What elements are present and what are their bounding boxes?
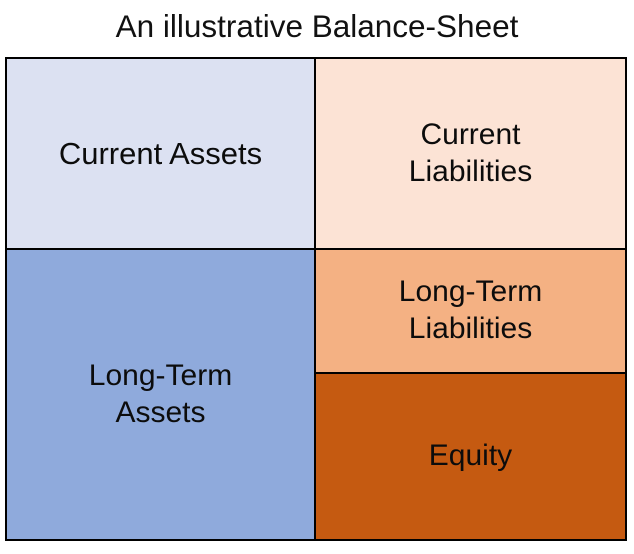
balance-sheet-figure: An illustrative Balance-Sheet Current As… <box>0 0 634 554</box>
page-title: An illustrative Balance-Sheet <box>0 2 634 50</box>
block-current-liabilities-label: Current Liabilities <box>403 117 538 190</box>
block-current-assets: Current Assets <box>7 59 316 250</box>
block-current-liabilities: Current Liabilities <box>316 59 625 250</box>
block-equity: Equity <box>316 374 625 539</box>
block-equity-label: Equity <box>423 438 518 475</box>
block-long-term-assets-label: Long-Term Assets <box>83 358 238 431</box>
block-long-term-liabilities: Long-Term Liabilities <box>316 250 625 374</box>
block-current-assets-label: Current Assets <box>53 135 268 173</box>
block-long-term-liabilities-label: Long-Term Liabilities <box>393 274 548 347</box>
balance-sheet-matrix: Current Assets Current Liabilities Long-… <box>5 57 627 541</box>
block-long-term-assets: Long-Term Assets <box>7 250 316 539</box>
